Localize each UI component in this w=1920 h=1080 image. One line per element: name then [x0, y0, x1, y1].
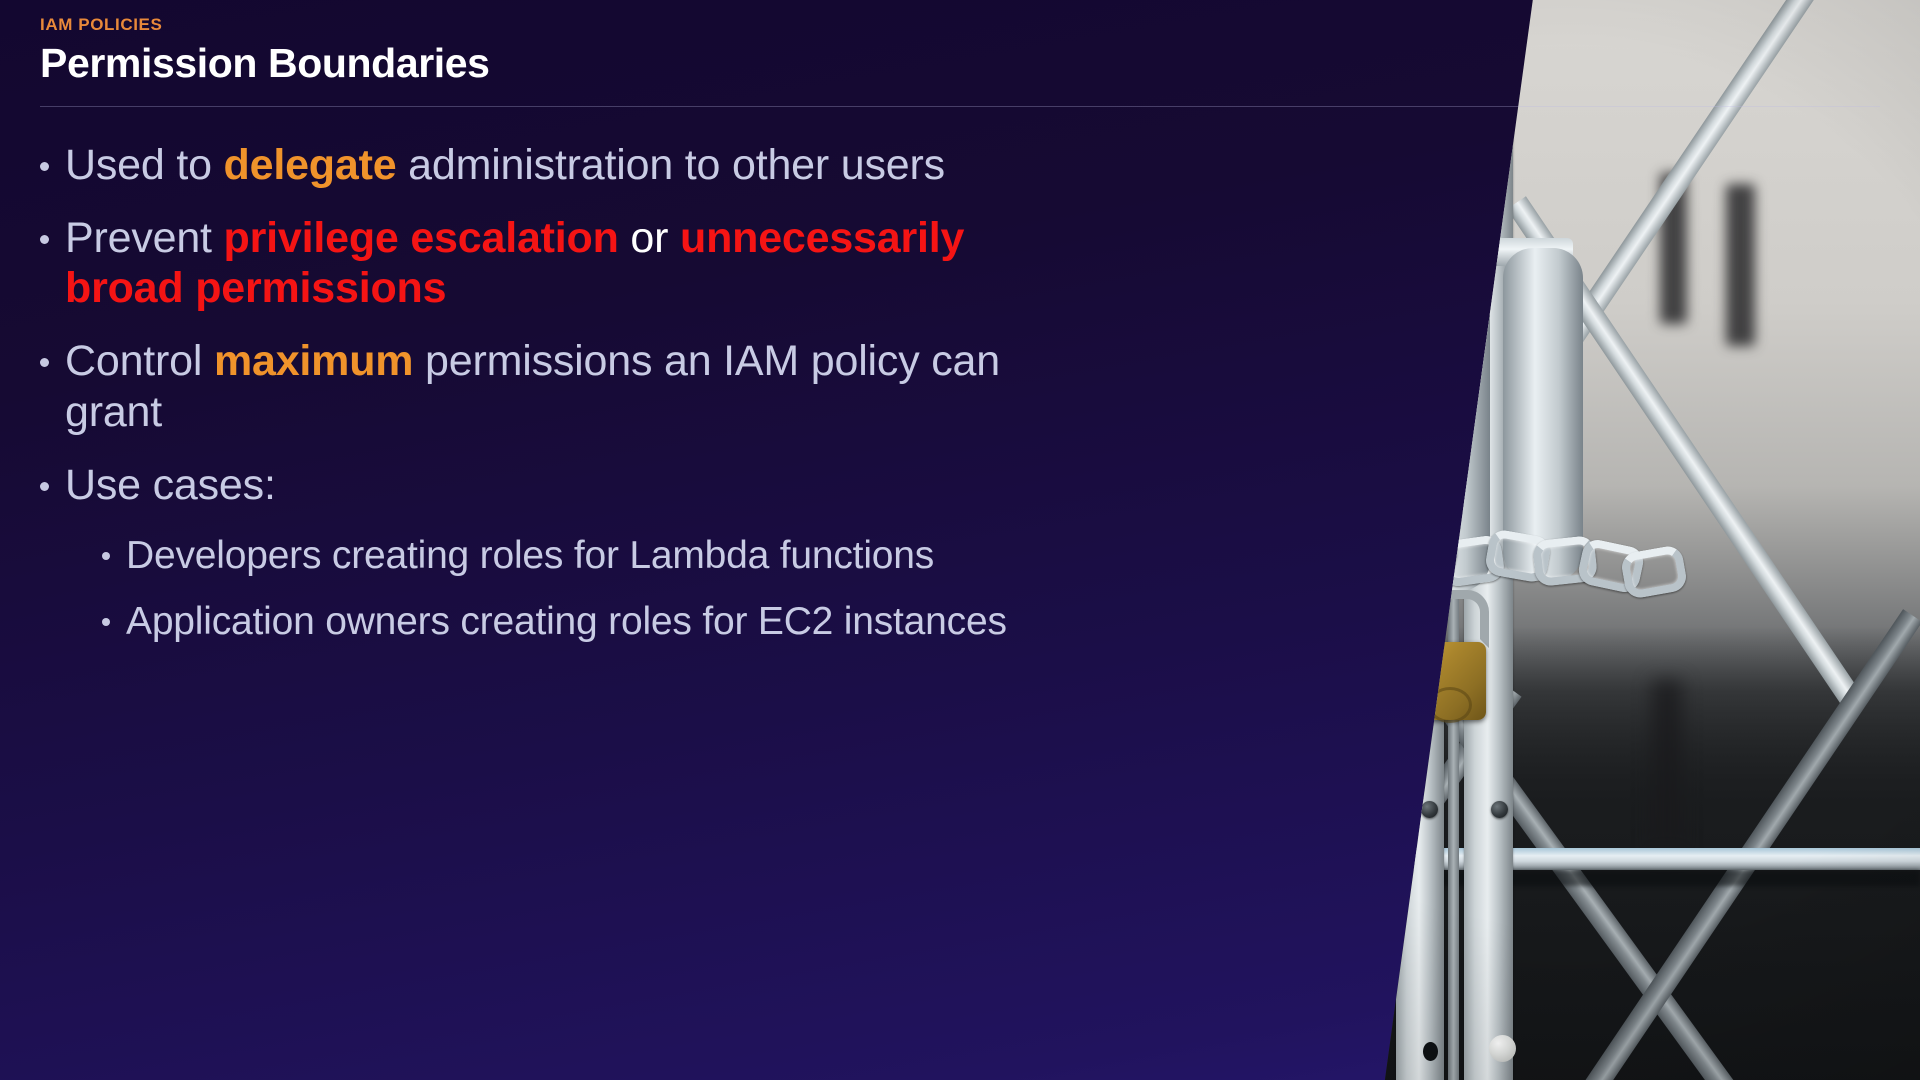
bullet-item: Control maximum permissions an IAM polic… — [40, 336, 1060, 437]
bullet-text-segment: Control — [65, 337, 214, 385]
bullet-text-segment: maximum — [214, 337, 413, 385]
header-divider — [40, 106, 1880, 107]
bullet-text-segment: Used to — [65, 141, 224, 189]
bullet-dot-icon — [102, 618, 110, 626]
bullet-dot-icon — [40, 358, 49, 367]
bullet-text-segment: Use cases: — [65, 461, 276, 509]
bullet-text: Control maximum permissions an IAM polic… — [65, 336, 1060, 437]
sub-bullet-item: Developers creating roles for Lambda fun… — [102, 532, 1060, 580]
bullet-text: Application owners creating roles for EC… — [126, 598, 1007, 646]
bullet-text: Use cases: — [65, 460, 276, 511]
bullet-text-segment: Application owners creating roles for EC… — [126, 600, 1007, 643]
gate-white-knob — [1489, 1035, 1516, 1062]
slide-root: IAM POLICIES Permission Boundaries Used … — [0, 0, 1920, 1080]
page-title: Permission Boundaries — [40, 42, 1920, 85]
hasp-loop-right — [1503, 248, 1583, 581]
sub-bullet-item: Application owners creating roles for EC… — [102, 598, 1060, 646]
bullet-text-segment: administration to other users — [396, 141, 945, 189]
bullet-text: Developers creating roles for Lambda fun… — [126, 532, 934, 580]
bullet-text: Used to delegate administration to other… — [65, 140, 945, 191]
slide-header: IAM POLICIES Permission Boundaries — [0, 0, 1920, 108]
header-eyebrow: IAM POLICIES — [40, 16, 1920, 33]
bullet-text-segment: privilege escalation — [224, 214, 619, 262]
bullet-dot-icon — [102, 552, 110, 560]
bullet-text-segment: Prevent — [65, 214, 224, 262]
bullet-text-segment: delegate — [224, 141, 397, 189]
gate-bolt-hole — [1423, 1042, 1438, 1061]
bullet-text-segment: Developers creating roles for Lambda fun… — [126, 534, 934, 577]
bullet-dot-icon — [40, 482, 49, 491]
bullet-text: Prevent privilege escalation or unnecess… — [65, 213, 1060, 314]
bullet-item: Use cases: — [40, 460, 1060, 511]
gate-bolt-right — [1491, 801, 1508, 818]
bullet-item: Prevent privilege escalation or unnecess… — [40, 213, 1060, 314]
bullet-list: Used to delegate administration to other… — [40, 140, 1060, 664]
bullet-text-segment: or — [619, 214, 680, 262]
bullet-dot-icon — [40, 235, 49, 244]
bullet-item: Used to delegate administration to other… — [40, 140, 1060, 191]
bullet-dot-icon — [40, 162, 49, 171]
